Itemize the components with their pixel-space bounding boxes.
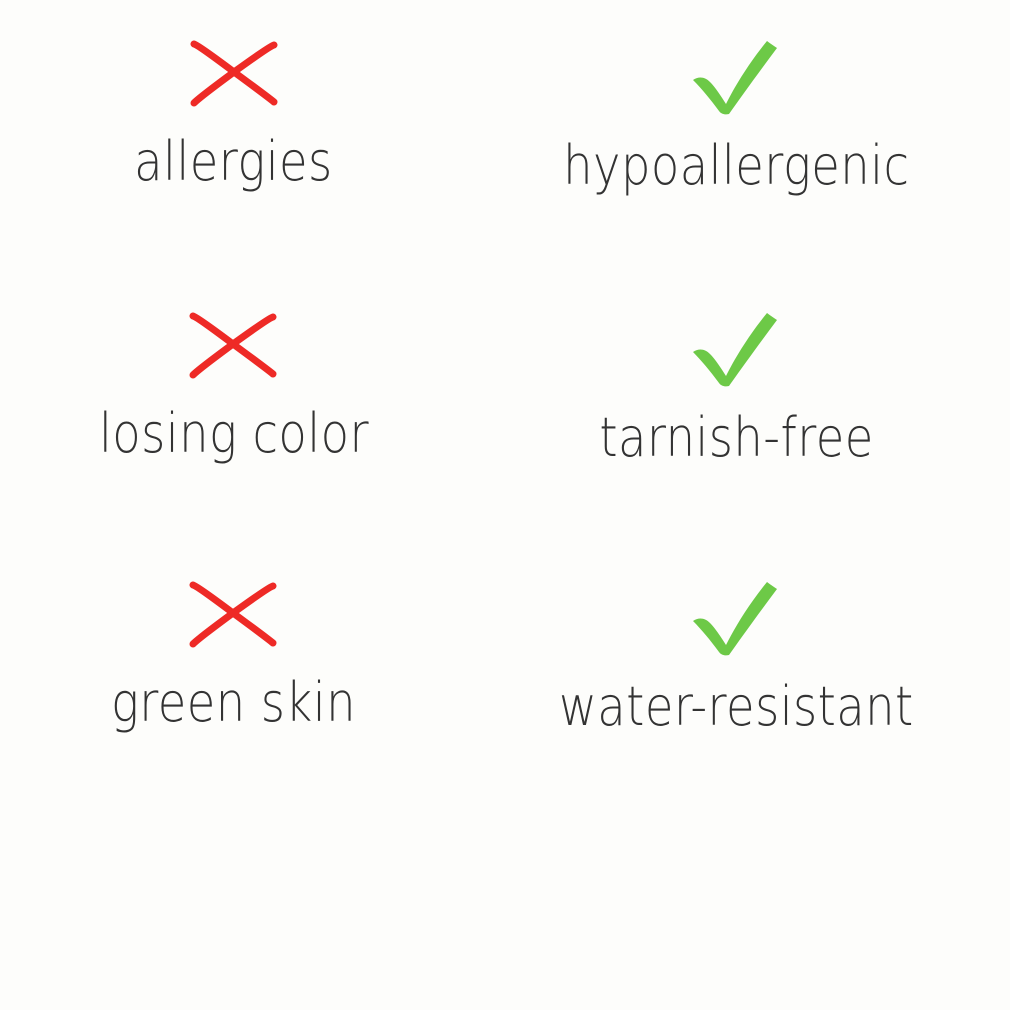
check-mark-icon (682, 569, 792, 665)
check-mark-icon (682, 28, 792, 124)
feature-cell-pro-hypoallergenic: hypoallergenic (495, 0, 1010, 280)
x-mark-icon (178, 300, 288, 392)
feature-label: hypoallergenic (563, 138, 909, 193)
check-mark-icon (682, 300, 792, 396)
comparison-grid: allergies hypoallergenic (0, 0, 1010, 840)
feature-label: water-resistant (559, 679, 914, 734)
x-mark-icon (178, 569, 288, 661)
feature-cell-pro-tarnish-free: tarnish-free (495, 280, 1010, 545)
feature-cell-con-green-skin: green skin (0, 545, 495, 840)
x-mark-icon (179, 28, 289, 120)
feature-cell-con-losing-color: losing color (0, 280, 495, 545)
feature-label: green skin (111, 675, 356, 730)
feature-label: allergies (134, 134, 333, 189)
feature-cell-pro-water-resistant: water-resistant (495, 545, 1010, 840)
feature-cell-con-allergies: allergies (0, 0, 495, 280)
feature-label: tarnish-free (599, 410, 873, 465)
bottom-whitespace (0, 840, 1010, 1010)
comparison-board: allergies hypoallergenic (0, 0, 1010, 1010)
feature-label: losing color (98, 406, 368, 461)
